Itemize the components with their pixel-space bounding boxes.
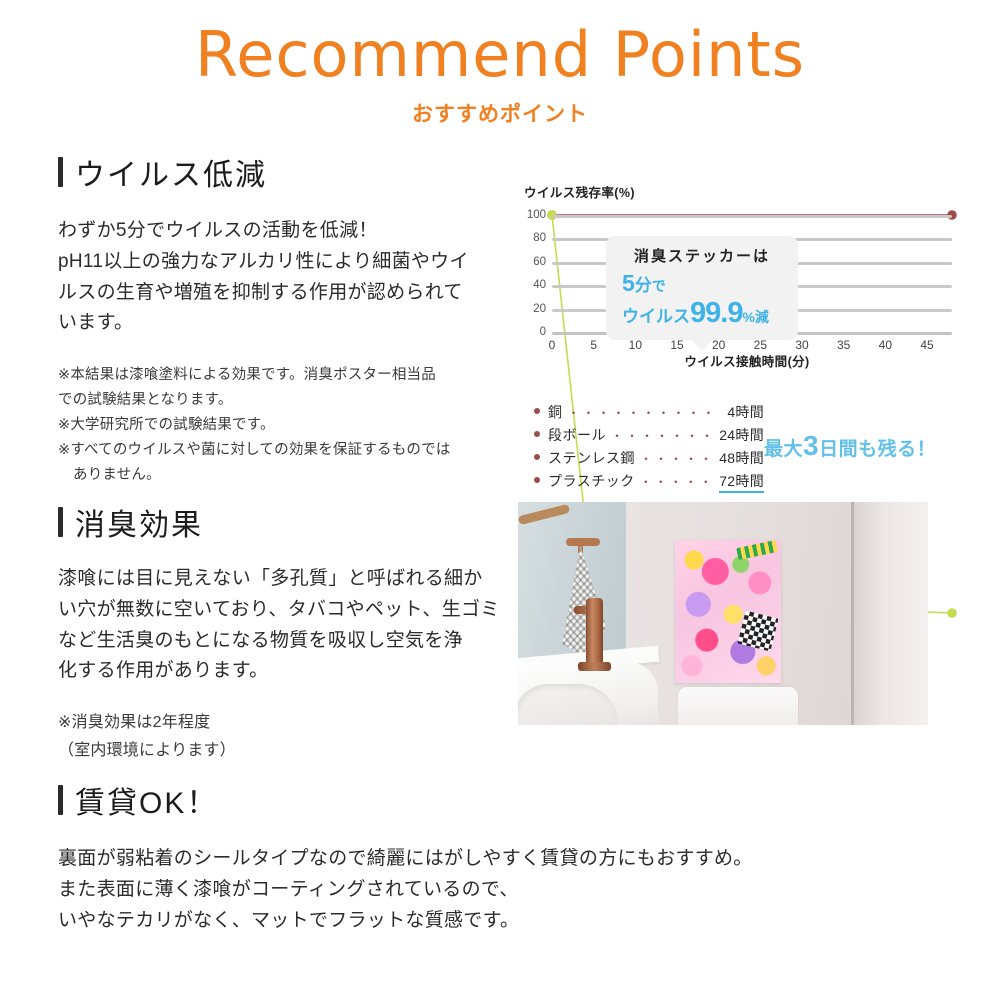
body-line: また表面に薄く漆喰がコーティングされているので、 [58,875,938,906]
chart-x-tick-label: 5 [590,338,597,352]
chart-y-tick-label: 100 [527,209,546,221]
heading-bar-icon [58,157,63,187]
body-line: ルスの生育や増殖を抑制する作用が認められて [58,278,528,309]
chart-x-tick-label: 40 [879,338,892,352]
section-title: ウイルス低減 [75,150,267,194]
chart-gridline: 100 [552,215,952,218]
callout-minutes-number: 5 [622,270,635,296]
heading-bar-icon [58,785,63,815]
chart-x-tick-label: 25 [754,338,767,352]
legend-material-name: 銅 [548,402,563,422]
photo-faucet [586,598,603,670]
body-line: わずか5分でウイルスの活動を低減！ [58,216,528,247]
callout-minutes-unit: 分 [635,276,652,295]
badge-number: 3 [803,430,819,461]
photo-wall-corner [851,502,854,725]
chart-x-tick-label: 20 [712,338,725,352]
bullet-dot-icon [534,477,540,483]
chart-y-tick-label: 0 [540,326,546,338]
note-line: ※すべてのウイルスや菌に対しての効果を保証するものでは [58,438,528,463]
body-line: います。 [58,308,528,339]
section-body-virus-reduction: わずか5分でウイルスの活動を低減！ pH11以上の強力なアルカリ性により細菌やウ… [58,216,528,339]
body-line: 漆喰には目に見えない「多孔質」と呼ばれる細か [58,564,528,595]
body-line: pH11以上の強力なアルカリ性により細菌やウイ [58,247,528,278]
photo-toilet-tank [678,687,798,725]
legend-leader-dots: ・・・・・・・・・・・ [568,404,723,421]
section-title: 賃貸OK！ [75,778,218,822]
photo-towel-hook [566,538,600,546]
section-heading-rental-ok: 賃貸OK！ [58,778,938,822]
legend-duration: 24時間 [719,425,764,445]
section-heading-deodorizing-effect: 消臭効果 [58,500,528,544]
note-line: （室内環境によります） [58,737,528,765]
infographic-page: Recommend Points おすすめポイント ウイルス低減 わずか5分でウ… [0,0,1000,1000]
body-line: い穴が無数に空いており、タバコやペット、生ゴミ [58,595,528,626]
bullet-dot-icon [534,408,540,414]
photo-wall-right [852,502,928,725]
body-line: など生活臭のもとになる物質を吸収し空気を浄 [58,626,528,657]
chart-y-axis-label: ウイルス残存率(%) [524,182,974,201]
legend-row: 銅 ・・・・・・・・・・・ 4時間 [534,402,764,422]
heading-bar-icon [58,507,63,537]
legend-material-name: 段ボール [548,425,606,445]
legend-duration: 48時間 [719,448,764,468]
section-deodorizing-effect: 消臭効果 漆喰には目に見えない「多孔質」と呼ばれる細か い穴が無数に空いており、… [58,500,528,764]
note-line: ありません。 [58,463,528,488]
photo-sink-bowl [518,684,618,725]
legend-material-name: ステンレス鋼 [548,448,635,468]
chart-callout-bubble: 消臭ステッカーは 5分で ウイルス99.9%減 [606,236,798,340]
legend-duration-highlighted: 72時間 [719,471,764,493]
note-line: ※大学研究所での試験結果です。 [58,413,528,438]
bullet-dot-icon [534,431,540,437]
callout-percent-number: 99.9 [690,297,742,329]
note-line: ※本結果は漆喰塗料による効果です。消臭ポスター相当品 [58,363,528,388]
photo-sink [518,662,658,725]
chart-y-tick-label: 80 [533,232,546,244]
chart-x-tick-label: 15 [670,338,683,352]
legend-duration: 4時間 [727,402,764,422]
photo-sticker-poster [675,540,781,683]
chart-y-tick-label: 20 [533,303,546,315]
photo-faucet-base [578,662,611,671]
legend-row: ステンレス鋼 ・・・・・ 48時間 [534,448,764,468]
section-notes-deodorizing-effect: ※消臭効果は2年程度 （室内環境によります） [58,709,528,764]
badge-prefix: 最大 [764,439,803,460]
callout-percent-sign: % [742,309,754,325]
callout-line-3: ウイルス99.9%減 [616,297,788,330]
page-title: Recommend Points [0,24,1000,86]
callout-line-2: 5分で [616,270,788,297]
legend-leader-dots: ・・・・・ [640,473,714,490]
note-line: ※消臭効果は2年程度 [58,709,528,737]
legend-leader-dots: ・・・・・・・・ [611,427,714,444]
callout-line-1: 消臭ステッカーは [616,245,788,266]
section-body-deodorizing-effect: 漆喰には目に見えない「多孔質」と呼ばれる細か い穴が無数に空いており、タバコやペ… [58,564,528,687]
survival-time-legend: 銅 ・・・・・・・・・・・ 4時間 段ボール ・・・・・・・・ 24時間 ステン… [534,402,764,496]
callout-reduce-word: 減 [755,309,769,325]
chart-y-tick-label: 40 [533,279,546,291]
bullet-dot-icon [534,454,540,460]
badge-suffix: 日間も残る！ [819,439,936,460]
chart-x-tick-label: 35 [837,338,850,352]
legend-row: 段ボール ・・・・・・・・ 24時間 [534,425,764,445]
legend-material-name: プラスチック [548,471,635,491]
section-virus-reduction: ウイルス低減 わずか5分でウイルスの活動を低減！ pH11以上の強力なアルカリ性… [58,150,528,488]
chart-x-tick-label: 45 [920,338,933,352]
page-header: Recommend Points おすすめポイント [0,24,1000,128]
chart-x-tick-label: 0 [549,338,556,352]
section-title: 消臭効果 [75,500,203,544]
page-subtitle: おすすめポイント [0,98,1000,128]
body-line: 裏面が弱粘着のシールタイプなので綺麗にはがしやすく賃貸の方にもおすすめ。 [58,844,938,875]
chart-x-axis-label: ウイルス接触時間(分) [524,351,970,370]
body-line: 化する作用があります。 [58,656,528,687]
section-notes-virus-reduction: ※本結果は漆喰塗料による効果です。消臭ポスター相当品 での試験結果となります。 … [58,363,528,488]
chart-data-point [947,608,957,618]
note-line: での試験結果となります。 [58,388,528,413]
callout-virus-word: ウイルス [622,307,690,326]
max-three-days-badge: 最大3日間も残る！ [764,430,936,462]
section-heading-virus-reduction: ウイルス低減 [58,150,528,194]
legend-row: プラスチック ・・・・・ 72時間 [534,471,764,493]
chart-x-tick-label: 10 [629,338,642,352]
section-body-rental-ok: 裏面が弱粘着のシールタイプなので綺麗にはがしやすく賃貸の方にもおすすめ。 また表… [58,844,938,936]
legend-leader-dots: ・・・・・ [640,450,714,467]
callout-minutes-tail: で [652,278,666,294]
chart-x-tick-label: 30 [795,338,808,352]
bathroom-poster-photo [518,502,928,725]
body-line: いやなテカリがなく、マットでフラットな質感です。 [58,906,938,937]
section-rental-ok: 賃貸OK！ 裏面が弱粘着のシールタイプなので綺麗にはがしやすく賃貸の方にもおすす… [58,778,938,936]
chart-y-tick-label: 60 [533,256,546,268]
